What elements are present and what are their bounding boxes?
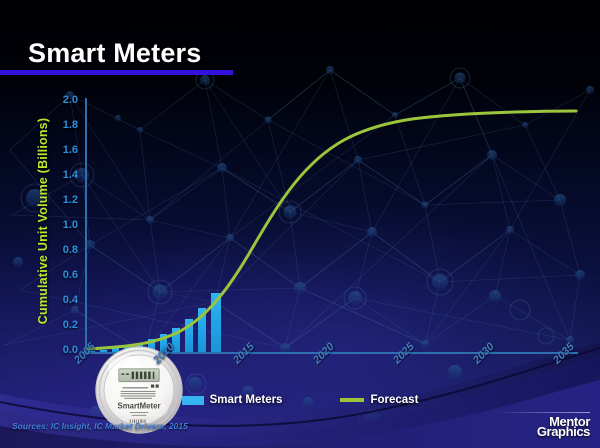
page-title: Smart Meters [28,38,201,69]
y-tick: 1.2 [36,194,78,206]
y-tick: 1.8 [36,119,78,131]
chart-container: Cumulative Unit Volume (Billions) 2.0 1.… [0,86,600,376]
y-tick: 0.0 [36,344,78,356]
mentor-graphics-logo: Mentor Graphics [537,417,590,437]
y-tick: 0.8 [36,244,78,256]
y-tick: 0.2 [36,319,78,331]
slide-root: Smart Meters Cumulative Unit Volume (Bil… [0,0,600,448]
legend-item-smart-meters: Smart Meters [182,394,283,406]
legend-label-smart-meters: Smart Meters [210,394,283,406]
title-underline-rule [0,70,233,75]
bar-series-smart-meters [86,100,578,352]
legend-line-swatch-icon [340,398,364,402]
logo-divider-rule [494,412,590,413]
chart-legend: Smart Meters Forecast [0,390,600,410]
y-tick: 0.6 [36,269,78,281]
y-tick: 2.0 [36,94,78,106]
bar-2014 [198,308,206,352]
bar-2015 [211,293,221,352]
legend-item-forecast: Forecast [340,394,418,406]
logo-line-2: Graphics [537,427,590,437]
y-tick: 1.6 [36,144,78,156]
y-tick: 0.4 [36,294,78,306]
legend-label-forecast: Forecast [370,394,418,406]
source-note: Sources: IC Insight, IC Market Drivers, … [12,421,188,431]
y-tick: 1.0 [36,219,78,231]
bar-2013 [185,319,193,352]
y-tick: 1.4 [36,169,78,181]
legend-bar-swatch-icon [182,396,204,405]
